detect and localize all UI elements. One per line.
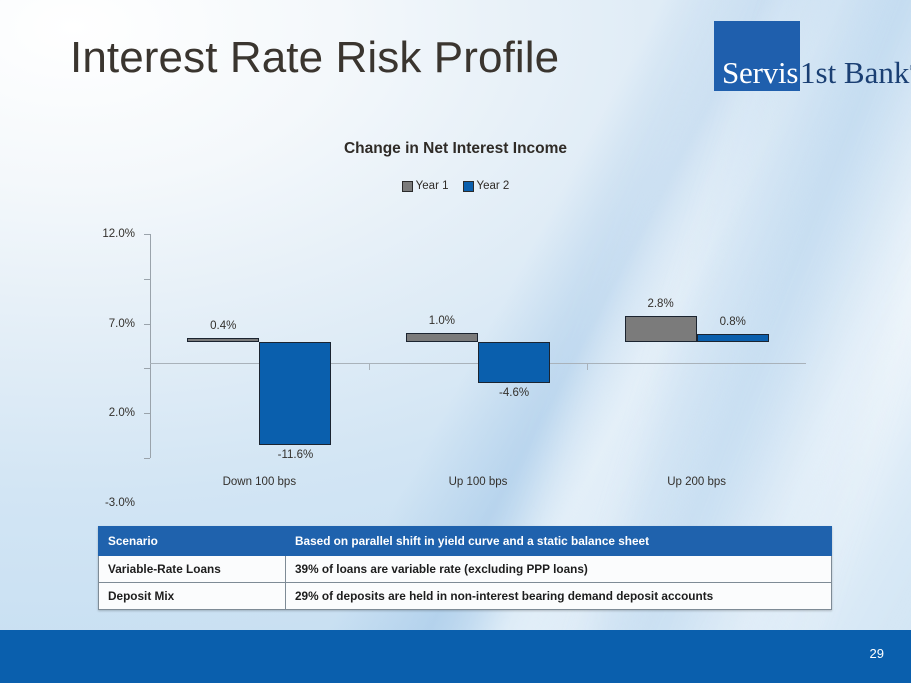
y-axis-tick-label: -3.0% bbox=[105, 497, 135, 509]
y-axis-line bbox=[150, 234, 151, 458]
x-axis-category-label: Up 200 bps bbox=[667, 476, 726, 488]
bar-value-label: 0.8% bbox=[720, 316, 746, 328]
table-row-label-deposit-mix: Deposit Mix bbox=[99, 583, 286, 610]
logo-wordmark-text: 1st Bank bbox=[800, 55, 909, 90]
servisfirst-bank-logo: Servis 1st Bank® bbox=[714, 21, 892, 91]
y-axis-tick: -8.0% bbox=[144, 413, 150, 414]
bar-value-label: 1.0% bbox=[429, 315, 455, 327]
chart-plot-area: 12.0%7.0%2.0%-3.0%-8.0%-13.0% Down 100 b… bbox=[150, 234, 806, 458]
x-axis-separator-tick bbox=[369, 363, 370, 370]
legend-item-year1: Year 1 bbox=[402, 180, 449, 192]
page-number: 29 bbox=[870, 646, 884, 661]
table-row-value-deposit-mix: 29% of deposits are held in non-interest… bbox=[286, 583, 832, 610]
slide-canvas: Interest Rate Risk Profile Servis 1st Ba… bbox=[0, 0, 911, 683]
legend-swatch-year1 bbox=[402, 181, 413, 192]
table-header-label: Scenario bbox=[99, 527, 286, 556]
y-axis-tick: -13.0% bbox=[144, 458, 150, 459]
table-row-value-variable-rate-loans: 39% of loans are variable rate (excludin… bbox=[286, 556, 832, 583]
legend-label-year2: Year 2 bbox=[477, 180, 510, 192]
table-row: Variable-Rate Loans 39% of loans are var… bbox=[99, 556, 832, 583]
scenario-assumptions-table: Scenario Based on parallel shift in yiel… bbox=[98, 526, 832, 610]
bar-year1 bbox=[187, 338, 259, 342]
slide-footer-bar: 29 bbox=[0, 630, 911, 683]
table-row: Deposit Mix 29% of deposits are held in … bbox=[99, 583, 832, 610]
bar-year1 bbox=[625, 316, 697, 341]
y-axis-tick-label: 7.0% bbox=[109, 318, 135, 330]
chart-title: Change in Net Interest Income bbox=[0, 140, 911, 158]
table-header-row: Scenario Based on parallel shift in yiel… bbox=[99, 527, 832, 556]
y-axis-tick: 2.0% bbox=[144, 324, 150, 325]
x-axis-category-label: Down 100 bps bbox=[223, 476, 297, 488]
y-axis-tick-label: 2.0% bbox=[109, 407, 135, 419]
net-interest-income-chart: Change in Net Interest Income Year 1 Yea… bbox=[0, 128, 911, 488]
bar-year2 bbox=[697, 334, 769, 341]
bar-year2 bbox=[259, 342, 331, 446]
logo-wordmark: 1st Bank® bbox=[800, 57, 911, 88]
x-axis-separator-tick bbox=[587, 363, 588, 370]
bar-value-label: -11.6% bbox=[278, 449, 314, 461]
bar-year1 bbox=[406, 333, 478, 342]
logo-servis-text: Servis bbox=[722, 57, 798, 88]
chart-legend: Year 1 Year 2 bbox=[0, 180, 911, 192]
y-axis-tick: 12.0% bbox=[144, 234, 150, 235]
bar-year2 bbox=[478, 342, 550, 383]
x-axis-category-label: Up 100 bps bbox=[449, 476, 508, 488]
table-row-label-variable-rate-loans: Variable-Rate Loans bbox=[99, 556, 286, 583]
legend-swatch-year2 bbox=[463, 181, 474, 192]
bar-value-label: -4.6% bbox=[499, 387, 529, 399]
y-axis-tick-label: 12.0% bbox=[102, 228, 135, 240]
legend-label-year1: Year 1 bbox=[416, 180, 449, 192]
legend-item-year2: Year 2 bbox=[463, 180, 510, 192]
bar-value-label: 0.4% bbox=[210, 320, 236, 332]
y-axis-tick: -3.0% bbox=[144, 368, 150, 369]
y-axis-tick: 7.0% bbox=[144, 279, 150, 280]
table-header-value: Based on parallel shift in yield curve a… bbox=[286, 527, 832, 556]
bar-value-label: 2.8% bbox=[647, 298, 673, 310]
page-title: Interest Rate Risk Profile bbox=[70, 33, 559, 83]
